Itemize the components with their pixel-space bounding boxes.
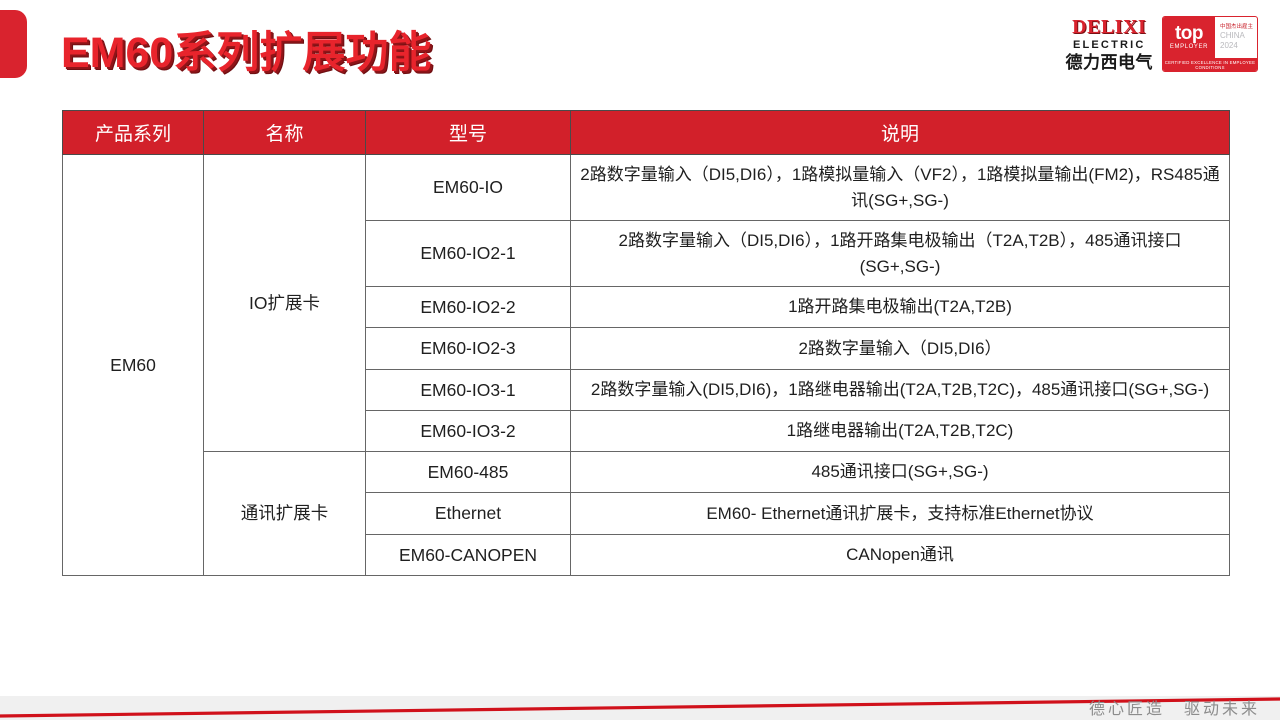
cell-description: EM60- Ethernet通讯扩展卡，支持标准Ethernet协议 xyxy=(571,493,1230,534)
table-row: 通讯扩展卡 EM60-485 485通讯接口(SG+,SG-) xyxy=(63,452,1230,493)
col-header-name: 名称 xyxy=(204,111,366,155)
delixi-electric-label: ELECTRIC xyxy=(1073,40,1146,51)
badge-year-label: 2024 xyxy=(1220,41,1257,51)
brand-logo-block: DELIXI ELECTRIC 德力西电气 top EMPLOYER 中国杰出雇… xyxy=(1066,16,1259,72)
cell-description: 2路数字量输入（DI5,DI6），1路模拟量输入（VF2），1路模拟量输出(FM… xyxy=(571,155,1230,221)
col-header-model: 型号 xyxy=(366,111,571,155)
cell-product-series: EM60 xyxy=(63,155,204,576)
badge-top-word: top xyxy=(1175,25,1203,43)
cell-model: EM60-485 xyxy=(366,452,571,493)
cell-group-comm: 通讯扩展卡 xyxy=(204,452,366,576)
expansion-spec-table: 产品系列 名称 型号 说明 EM60 IO扩展卡 EM60-IO 2路数字量输入… xyxy=(62,110,1230,576)
cell-description: CANopen通讯 xyxy=(571,534,1230,575)
cell-description: 1路开路集电极输出(T2A,T2B) xyxy=(571,287,1230,328)
cell-description: 2路数字量输入(DI5,DI6)，1路继电器输出(T2A,T2B,T2C)，48… xyxy=(571,369,1230,410)
cell-model: EM60-IO2-2 xyxy=(366,287,571,328)
cell-model: EM60-IO3-2 xyxy=(366,410,571,451)
delixi-logo: DELIXI ELECTRIC 德力西电气 xyxy=(1066,17,1154,71)
cell-model: EM60-CANOPEN xyxy=(366,534,571,575)
cell-model: Ethernet xyxy=(366,493,571,534)
footer-slogan: 德心匠造 驱动未来 xyxy=(1089,695,1260,719)
cell-description: 1路继电器输出(T2A,T2B,T2C) xyxy=(571,410,1230,451)
table-header-row: 产品系列 名称 型号 说明 xyxy=(63,111,1230,155)
cell-description: 2路数字量输入（DI5,DI6），1路开路集电极输出（T2A,T2B），485通… xyxy=(571,221,1230,287)
cell-description: 485通讯接口(SG+,SG-) xyxy=(571,452,1230,493)
slide-footer: 德心匠造 驱动未来 xyxy=(0,660,1280,720)
slide: EM60系列扩展功能 DELIXI ELECTRIC 德力西电气 top EMP… xyxy=(0,0,1280,720)
badge-certification-strip: CERTIFIED EXCELLENCE IN EMPLOYEE CONDITI… xyxy=(1163,58,1257,71)
delixi-chinese-name: 德力西电气 xyxy=(1066,54,1154,71)
badge-country-label: CHINA xyxy=(1220,31,1257,41)
cell-description: 2路数字量输入（DI5,DI6） xyxy=(571,328,1230,369)
cell-model: EM60-IO3-1 xyxy=(366,369,571,410)
badge-left-panel: top EMPLOYER xyxy=(1163,17,1215,58)
table-row: EM60 IO扩展卡 EM60-IO 2路数字量输入（DI5,DI6），1路模拟… xyxy=(63,155,1230,221)
badge-main-row: top EMPLOYER 中国杰出雇主 CHINA 2024 xyxy=(1163,17,1257,58)
cell-model: EM60-IO2-3 xyxy=(366,328,571,369)
title-accent-bar xyxy=(0,10,27,78)
col-header-description: 说明 xyxy=(571,111,1230,155)
badge-employer-label: EMPLOYER xyxy=(1170,44,1208,50)
badge-cn-label: 中国杰出雇主 xyxy=(1220,24,1257,31)
col-header-product-series: 产品系列 xyxy=(63,111,204,155)
cell-group-io: IO扩展卡 xyxy=(204,155,366,452)
cell-model: EM60-IO2-1 xyxy=(366,221,571,287)
delixi-wordmark: DELIXI xyxy=(1072,17,1146,37)
cell-model: EM60-IO xyxy=(366,155,571,221)
top-employer-badge: top EMPLOYER 中国杰出雇主 CHINA 2024 CERTIFIED… xyxy=(1162,16,1258,72)
page-title: EM60系列扩展功能 xyxy=(61,18,431,80)
badge-right-panel: 中国杰出雇主 CHINA 2024 xyxy=(1215,17,1257,58)
